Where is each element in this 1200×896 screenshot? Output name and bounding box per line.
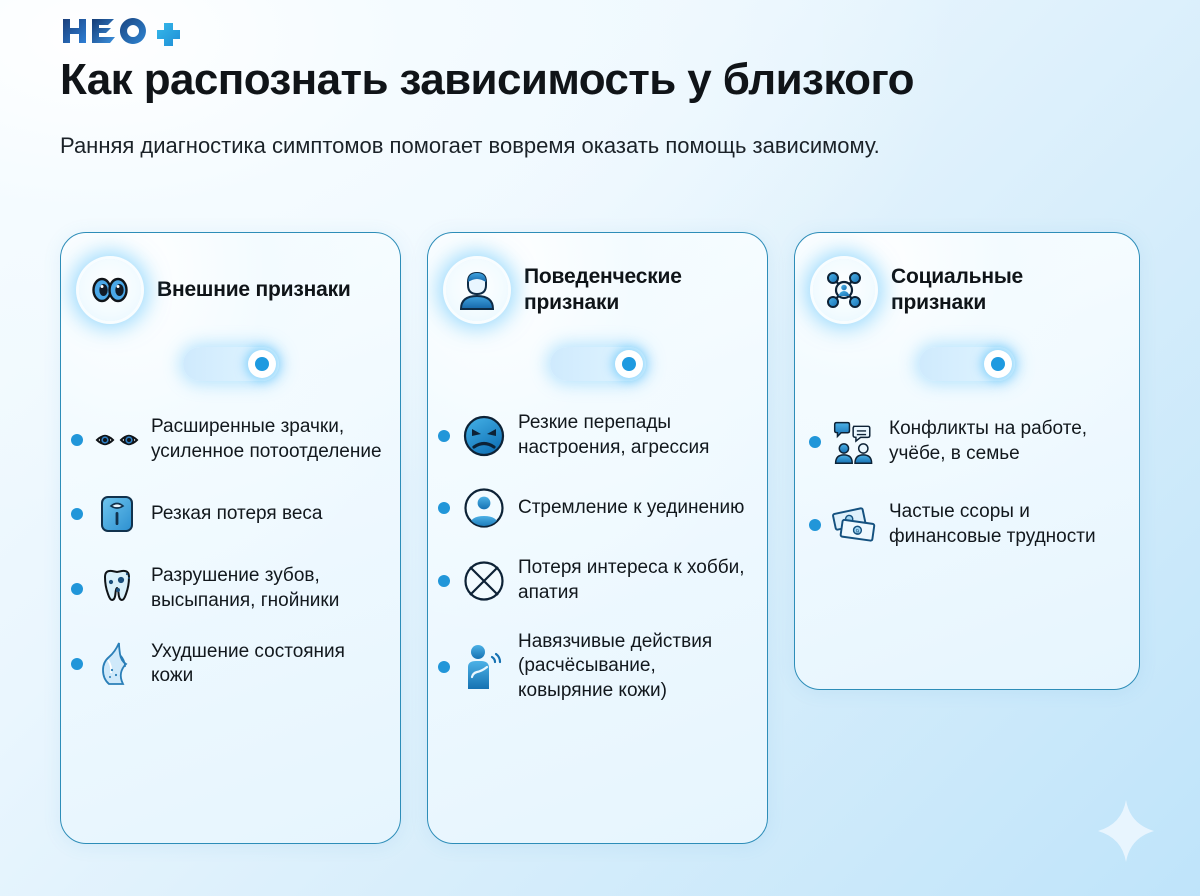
people-conflict-icon bbox=[831, 418, 879, 466]
list-item-label: Частые ссоры и финансовые трудности bbox=[889, 500, 1121, 549]
crossed-circle-icon bbox=[460, 557, 508, 605]
signs-list: Конфликты на работе, учёбе, в семье 9 bbox=[795, 417, 1139, 606]
list-item: Резкая потеря веса bbox=[71, 490, 382, 538]
card-header: Поведенческие признаки bbox=[428, 233, 767, 321]
dilated-pupils-icon bbox=[93, 416, 141, 464]
list-item-label: Стремление к уединению bbox=[518, 496, 744, 521]
list-item: Навязчивые действия (расчёсывание, ковыр… bbox=[438, 630, 749, 704]
toggle-switch-social[interactable] bbox=[919, 347, 1015, 381]
angry-face-icon bbox=[460, 412, 508, 460]
list-item-label: Резкие перепады настроения, агрессия bbox=[518, 411, 749, 460]
signs-list: Расширенные зрачки, усиленное потоотделе… bbox=[61, 415, 400, 737]
eyes-icon bbox=[79, 259, 141, 321]
list-item: Разрушение зубов, высыпания, гнойники bbox=[71, 564, 382, 613]
bullet-dot bbox=[71, 658, 83, 670]
sparkle-decoration bbox=[1098, 800, 1154, 862]
list-item-label: Разрушение зубов, высыпания, гнойники bbox=[151, 564, 382, 613]
bullet-dot bbox=[438, 575, 450, 587]
toggle-wrapper bbox=[61, 347, 400, 381]
bullet-dot bbox=[809, 519, 821, 531]
card-title: Внешние признаки bbox=[157, 277, 351, 303]
decayed-tooth-icon bbox=[93, 565, 141, 613]
card-social-signs[interactable]: Социальные признаки bbox=[794, 232, 1140, 690]
card-header: Социальные признаки bbox=[795, 233, 1139, 321]
banknotes-icon: 9 bbox=[831, 501, 879, 549]
list-item: Ухудшение состояния кожи bbox=[71, 640, 382, 689]
person-avatar-icon bbox=[446, 259, 508, 321]
cards-container: Внешние признаки bbox=[60, 232, 1140, 847]
face-skin-icon bbox=[93, 640, 141, 688]
list-item: Конфликты на работе, учёбе, в семье bbox=[809, 417, 1121, 466]
toggle-switch-external[interactable] bbox=[183, 347, 279, 381]
list-item: Стремление к уединению bbox=[438, 484, 749, 532]
page-title: Как распознать зависимость у близкого bbox=[60, 55, 1150, 104]
bullet-dot bbox=[809, 436, 821, 448]
social-network-icon bbox=[813, 259, 875, 321]
card-title: Поведенческие признаки bbox=[524, 264, 749, 315]
list-item-label: Навязчивые действия (расчёсывание, ковыр… bbox=[518, 630, 749, 704]
bullet-dot bbox=[71, 508, 83, 520]
brand-logo bbox=[61, 14, 193, 48]
bullet-dot bbox=[71, 583, 83, 595]
card-behavioral-signs[interactable]: Поведенческие признаки bbox=[427, 232, 768, 844]
bullet-dot bbox=[71, 434, 83, 446]
list-item: Потеря интереса к хобби, апатия bbox=[438, 556, 749, 605]
page-subtitle: Ранняя диагностика симптомов помогает во… bbox=[60, 130, 960, 162]
card-title: Социальные признаки bbox=[891, 264, 1121, 315]
bullet-dot bbox=[438, 430, 450, 442]
list-item-label: Потеря интереса к хобби, апатия bbox=[518, 556, 749, 605]
bullet-dot bbox=[438, 661, 450, 673]
scratching-person-icon bbox=[460, 643, 508, 691]
list-item-label: Ухудшение состояния кожи bbox=[151, 640, 382, 689]
list-item-label: Расширенные зрачки, усиленное потоотделе… bbox=[151, 415, 382, 464]
card-header: Внешние признаки bbox=[61, 233, 400, 321]
list-item: Расширенные зрачки, усиленное потоотделе… bbox=[71, 415, 382, 464]
lonely-person-icon bbox=[460, 484, 508, 532]
bullet-dot bbox=[438, 502, 450, 514]
toggle-knob bbox=[615, 350, 643, 378]
list-item: Резкие перепады настроения, агрессия bbox=[438, 411, 749, 460]
toggle-wrapper bbox=[428, 347, 767, 381]
toggle-switch-behavioral[interactable] bbox=[550, 347, 646, 381]
list-item-label: Конфликты на работе, учёбе, в семье bbox=[889, 417, 1121, 466]
weight-scale-icon bbox=[93, 490, 141, 538]
signs-list: Резкие перепады настроения, агрессия bbox=[428, 411, 767, 750]
toggle-knob bbox=[248, 350, 276, 378]
toggle-knob bbox=[984, 350, 1012, 378]
list-item: 9 Частые ссоры и финансовые трудности bbox=[809, 500, 1121, 549]
card-external-signs[interactable]: Внешние признаки bbox=[60, 232, 401, 844]
list-item-label: Резкая потеря веса bbox=[151, 502, 323, 527]
toggle-wrapper bbox=[795, 347, 1139, 381]
